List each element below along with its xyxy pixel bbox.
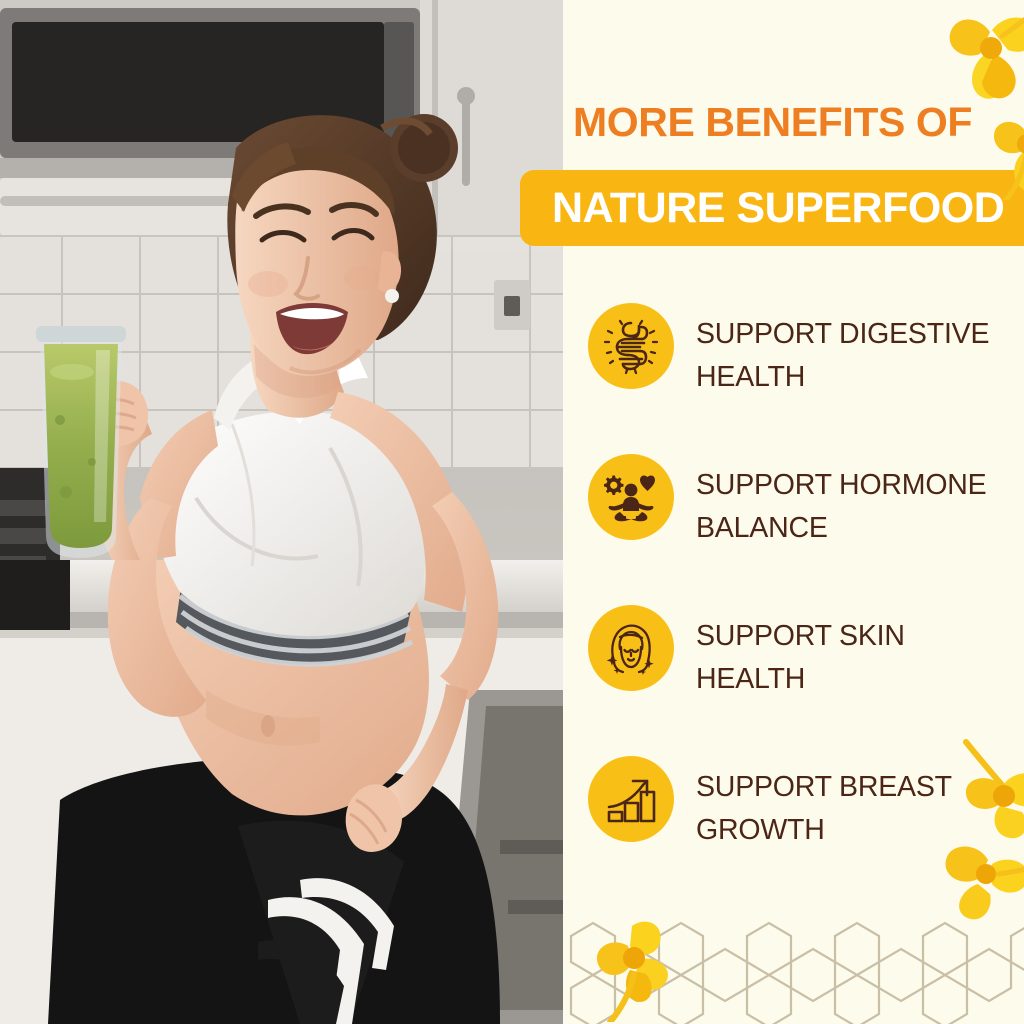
- banner-title: NATURE SUPERFOOD: [552, 181, 1024, 235]
- growth-chart-icon: [588, 756, 674, 842]
- intestine-icon: [588, 303, 674, 389]
- benefits-list: SUPPORT DIGESTIVE HEALTH: [588, 303, 1018, 907]
- list-item-label: SUPPORT BREAST GROWTH: [696, 766, 1016, 852]
- list-item: SUPPORT HORMONE BALANCE: [588, 454, 1018, 605]
- list-item-label: SUPPORT HORMONE BALANCE: [696, 464, 1016, 550]
- hero-photo-illustration: [0, 0, 563, 1024]
- page-title: MORE BENEFITS OF: [573, 99, 1013, 145]
- honeycomb-pattern-icon: [563, 893, 1024, 1024]
- glowing-face-icon: [588, 605, 674, 691]
- meditating-person-icon: [588, 454, 674, 540]
- poster-canvas: MORE BENEFITS OF NATURE SUPERFOOD: [0, 0, 1024, 1024]
- list-item: SUPPORT BREAST GROWTH: [588, 756, 1018, 907]
- hero-photo: [0, 0, 563, 1024]
- list-item: SUPPORT SKIN HEALTH: [588, 605, 1018, 756]
- list-item-label: SUPPORT SKIN HEALTH: [696, 615, 1016, 701]
- list-item: SUPPORT DIGESTIVE HEALTH: [588, 303, 1018, 454]
- list-item-label: SUPPORT DIGESTIVE HEALTH: [696, 313, 1016, 399]
